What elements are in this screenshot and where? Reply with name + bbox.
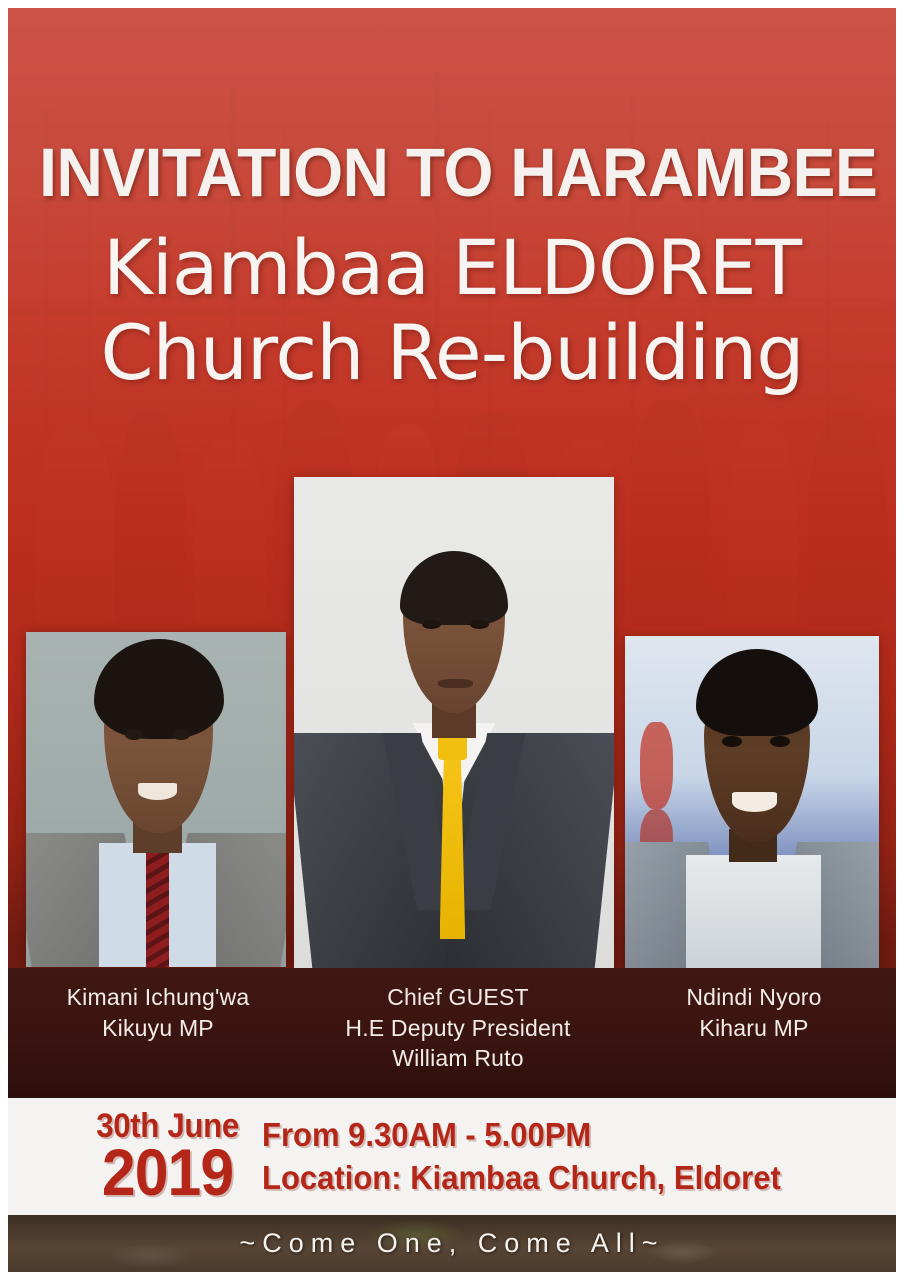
- caption-left-role: Kikuyu MP: [18, 1013, 298, 1044]
- caption-right: Ndindi Nyoro Kiharu MP: [620, 982, 888, 1043]
- caption-left: Kimani Ichung'wa Kikuyu MP: [18, 982, 298, 1043]
- event-date-year: 2019: [97, 1142, 240, 1203]
- subtitle-line-1: Kiambaa ELDORET: [103, 223, 801, 312]
- portrait-ndindi-nyoro: [625, 636, 879, 968]
- event-details-band: 30th June 2019 From 9.30AM - 5.00PM Loca…: [8, 1098, 896, 1215]
- headline-block: INVITATION TO HARAMBEE Kiambaa ELDORET C…: [8, 138, 896, 395]
- event-time: From 9.30AM - 5.00PM: [262, 1113, 781, 1157]
- subtitle-line-2: Church Re-building: [8, 310, 896, 395]
- caption-right-role: Kiharu MP: [620, 1013, 888, 1044]
- footer-tagline: ~Come One, Come All~: [239, 1228, 664, 1259]
- caption-right-name: Ndindi Nyoro: [620, 982, 888, 1013]
- caption-center-name: William Ruto: [308, 1043, 608, 1074]
- subtitle-block: Kiambaa ELDORET Church Re-building: [8, 225, 896, 395]
- caption-center-role: H.E Deputy President: [308, 1013, 608, 1044]
- caption-center: Chief GUEST H.E Deputy President William…: [308, 982, 608, 1074]
- portrait-kimani-ichungwa: [26, 632, 286, 967]
- caption-left-name: Kimani Ichung'wa: [18, 982, 298, 1013]
- portrait-image-left: [26, 632, 286, 967]
- event-location: Location: Kiambaa Church, Eldoret: [262, 1156, 781, 1200]
- event-details-inner: 30th June 2019 From 9.30AM - 5.00PM Loca…: [90, 1111, 813, 1203]
- event-time-location: From 9.30AM - 5.00PM Location: Kiambaa C…: [262, 1113, 781, 1201]
- portrait-william-ruto: [294, 477, 614, 969]
- poster-canvas: INVITATION TO HARAMBEE Kiambaa ELDORET C…: [8, 8, 896, 1272]
- portrait-image-right: [625, 636, 879, 968]
- caption-band: Kimani Ichung'wa Kikuyu MP Chief GUEST H…: [8, 968, 896, 1098]
- footer-band: ~Come One, Come All~: [8, 1215, 896, 1272]
- portrait-image-center: [294, 477, 614, 969]
- harambee-invitation-poster: INVITATION TO HARAMBEE Kiambaa ELDORET C…: [0, 0, 904, 1280]
- event-date: 30th June 2019: [97, 1111, 240, 1203]
- caption-center-title: Chief GUEST: [308, 982, 608, 1013]
- page-title: INVITATION TO HARAMBEE: [39, 138, 865, 207]
